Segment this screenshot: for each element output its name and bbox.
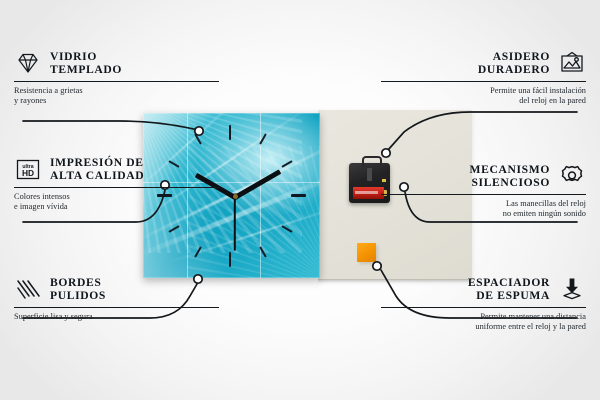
feature-title: IMPRESIÓN DE ALTA CALIDAD [50, 156, 144, 183]
feature-desc-line1: Permite mantener una distancia [381, 312, 586, 323]
feature-desc-line2: y rayones [14, 96, 219, 107]
feature-desc-line1: Colores intensos [14, 192, 219, 203]
feature-title-line2: TEMPLADO [50, 63, 122, 76]
feature-divider [14, 81, 219, 82]
feature-mecanismo-silencioso: MECANISMO SILENCIOSO Las manecillas del … [381, 163, 586, 220]
feature-title-line2: DURADERO [478, 63, 550, 76]
feature-desc-line1: Permite una fácil instalación [381, 86, 586, 97]
feature-desc-line1: Las manecillas del reloj [381, 199, 586, 210]
infographic-canvas: VIDRIO TEMPLADO Resistencia a grietas y … [0, 0, 600, 400]
feature-header: VIDRIO TEMPLADO [14, 50, 219, 77]
feature-description: Permite una fácil instalación del reloj … [381, 86, 586, 107]
second-hand [234, 197, 236, 251]
battery [353, 187, 384, 199]
feature-description: Colores intensos e imagen vívida [14, 192, 219, 213]
glass-seam [260, 113, 261, 278]
polished-edges-icon [14, 277, 42, 302]
feature-title-line2: SILENCIOSO [470, 176, 550, 189]
gear-icon [558, 164, 586, 189]
diamond-icon [14, 51, 42, 76]
feature-divider [381, 194, 586, 195]
picture-hanger-icon [558, 51, 586, 76]
battery-label [355, 191, 378, 194]
feature-description: Permite mantener una distancia uniforme … [381, 312, 586, 333]
feature-asidero-duradero: ASIDERO DURADERO Permite una fácil insta… [381, 50, 586, 107]
feature-description: Superficie lisa y segura [14, 312, 219, 323]
feature-divider [381, 81, 586, 82]
feature-description: Las manecillas del reloj no emiten ningú… [381, 199, 586, 220]
feature-impresion-alta-calidad: ultra HD IMPRESIÓN DE ALTA CALIDAD Color… [14, 156, 219, 213]
feature-divider [14, 187, 219, 188]
svg-text:HD: HD [22, 168, 34, 178]
clock-hub [233, 194, 238, 199]
feature-title-line1: VIDRIO [50, 50, 122, 63]
feature-title: ASIDERO DURADERO [478, 50, 550, 77]
feature-header: MECANISMO SILENCIOSO [381, 163, 586, 190]
feature-title: MECANISMO SILENCIOSO [470, 163, 550, 190]
feature-vidrio-templado: VIDRIO TEMPLADO Resistencia a grietas y … [14, 50, 219, 107]
mechanism-hook [362, 156, 382, 167]
feature-title-line1: ESPACIADOR [468, 276, 550, 289]
feature-title-line2: DE ESPUMA [468, 289, 550, 302]
feature-desc-line2: del reloj en la pared [381, 96, 586, 107]
feature-title-line1: BORDES [50, 276, 106, 289]
feature-header: BORDES PULIDOS [14, 276, 219, 303]
feature-desc-line2: uniforme entre el reloj y la pared [381, 322, 586, 333]
mechanism-shaft [367, 168, 372, 181]
feature-title-line2: PULIDOS [50, 289, 106, 302]
clock-tick-6 [229, 252, 231, 267]
feature-desc-line2: e imagen vívida [14, 202, 219, 213]
feature-header: ASIDERO DURADERO [381, 50, 586, 77]
feature-description: Resistencia a grietas y rayones [14, 86, 219, 107]
feature-title: BORDES PULIDOS [50, 276, 106, 303]
ultra-hd-icon: ultra HD [14, 157, 42, 182]
feature-bordes-pulidos: BORDES PULIDOS Superficie lisa y segura [14, 276, 219, 322]
clock-tick-3 [291, 194, 306, 197]
feature-desc-line2: no emiten ningún sonido [381, 209, 586, 220]
feature-title-line1: IMPRESIÓN DE [50, 156, 144, 169]
feature-divider [381, 307, 586, 308]
feature-divider [14, 307, 219, 308]
feature-desc-line1: Resistencia a grietas [14, 86, 219, 97]
feature-title-line2: ALTA CALIDAD [50, 169, 144, 182]
feature-header: ESPACIADOR DE ESPUMA [381, 276, 586, 303]
clock-tick-12 [229, 125, 231, 140]
feature-desc-line1: Superficie lisa y segura [14, 312, 219, 323]
feature-header: ultra HD IMPRESIÓN DE ALTA CALIDAD [14, 156, 219, 183]
feature-title-line1: ASIDERO [478, 50, 550, 63]
feature-espaciador-de-espuma: ESPACIADOR DE ESPUMA Permite mantener un… [381, 276, 586, 333]
feature-title: ESPACIADOR DE ESPUMA [468, 276, 550, 303]
feature-title: VIDRIO TEMPLADO [50, 50, 122, 77]
feature-title-line1: MECANISMO [470, 163, 550, 176]
down-arrow-spacer-icon [558, 277, 586, 302]
foam-spacer [357, 243, 376, 262]
